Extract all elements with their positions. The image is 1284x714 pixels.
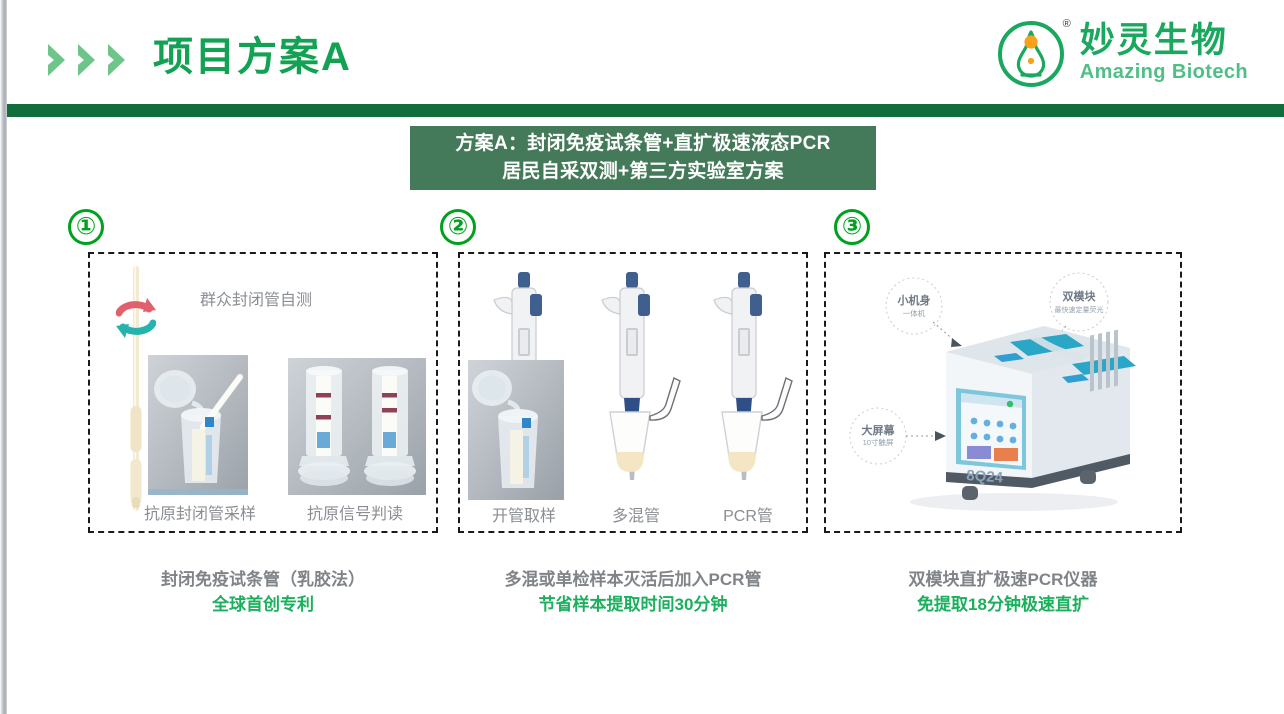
chevron-right-icon-2 (77, 43, 103, 77)
step-footer-3-highlight: 免提取18分钟极速直扩 (824, 592, 1182, 617)
triple-chevron-right-icon (47, 43, 133, 77)
banner-line-1: 方案A：封闭免疫试条管+直扩极速液态PCR (455, 130, 830, 158)
micropipette-icon-3 (694, 266, 806, 506)
slide-root: 项目方案A ® 妙灵生物 Amazing Biotech 方案A：封闭免疫试条管… (0, 0, 1284, 714)
slide-header: 项目方案A ® 妙灵生物 Amazing Biotech (7, 0, 1284, 104)
micropipette-icon-2 (582, 266, 694, 506)
svg-text:大屏幕: 大屏幕 (862, 423, 896, 437)
chevron-right-icon-3 (107, 43, 133, 77)
brand-name-cn: 妙灵生物 (1080, 21, 1248, 61)
banner-line-2: 居民自采双测+第三方实验室方案 (502, 158, 784, 186)
step-panel-3: 小机身 一体机 双模块 最快速定量荧光 大屏幕 10寸触屏 (824, 252, 1182, 533)
open-tube-sampling-photo (468, 360, 564, 500)
step-footer-1-highlight: 全球首创专利 (88, 592, 438, 617)
step-footer-3-title: 双模块直扩极速PCR仪器 (824, 567, 1182, 592)
scheme-banner: 方案A：封闭免疫试条管+直扩极速液态PCR 居民自采双测+第三方实验室方案 (410, 126, 876, 190)
panel2-image-caption-2: 多混管 (580, 502, 692, 526)
svg-text:最快速定量荧光: 最快速定量荧光 (1055, 305, 1104, 314)
panel1-image-caption-2: 抗原信号判读 (280, 500, 430, 524)
step-number-1: ① (68, 209, 104, 245)
step-footer-2-title: 多混或单检样本灭活后加入PCR管 (458, 567, 808, 592)
svg-text:10寸触屏: 10寸触屏 (863, 437, 894, 447)
panel2-image-caption-1: 开管取样 (468, 502, 580, 526)
step-footer-2: 多混或单检样本灭活后加入PCR管 节省样本提取时间30分钟 (458, 567, 808, 617)
page-title: 项目方案A (153, 33, 352, 81)
header-divider (7, 104, 1284, 117)
svg-text:小机身: 小机身 (897, 293, 931, 307)
step-footer-2-highlight: 节省样本提取时间30分钟 (458, 592, 808, 617)
self-test-label: 群众封闭管自测 (200, 286, 312, 310)
instrument-model-label: 8Q24 (966, 467, 1004, 487)
svg-text:一体机: 一体机 (903, 308, 926, 318)
svg-text:双模块: 双模块 (1063, 289, 1097, 303)
step-footer-3: 双模块直扩极速PCR仪器 免提取18分钟极速直扩 (824, 567, 1182, 617)
brand-logo: ® 妙灵生物 Amazing Biotech (997, 16, 1248, 88)
panel2-image-caption-3: PCR管 (692, 502, 804, 526)
antigen-closed-tube-sampling-photo (148, 355, 248, 495)
left-edge-strip (0, 0, 7, 714)
registered-trademark-icon: ® (1063, 18, 1071, 30)
panel1-image-caption-1: 抗原封闭管采样 (130, 500, 270, 524)
flask-circle-logo-icon: ® (997, 16, 1069, 88)
chevron-right-icon-1 (47, 43, 73, 77)
antigen-signal-readout-photo (288, 358, 426, 495)
step-number-3: ③ (834, 209, 870, 245)
pcr-instrument-icon: 小机身 一体机 双模块 最快速定量荧光 大屏幕 10寸触屏 (834, 264, 1174, 522)
brand-name-en: Amazing Biotech (1080, 61, 1248, 84)
step-panel-1: 群众封闭管自测 (88, 252, 438, 533)
step-number-2: ② (440, 209, 476, 245)
step-footer-1: 封闭免疫试条管（乳胶法） 全球首创专利 (88, 567, 438, 617)
step-footer-1-title: 封闭免疫试条管（乳胶法） (88, 567, 438, 592)
step-panel-2: 开管取样 多混管 PCR管 (458, 252, 808, 533)
